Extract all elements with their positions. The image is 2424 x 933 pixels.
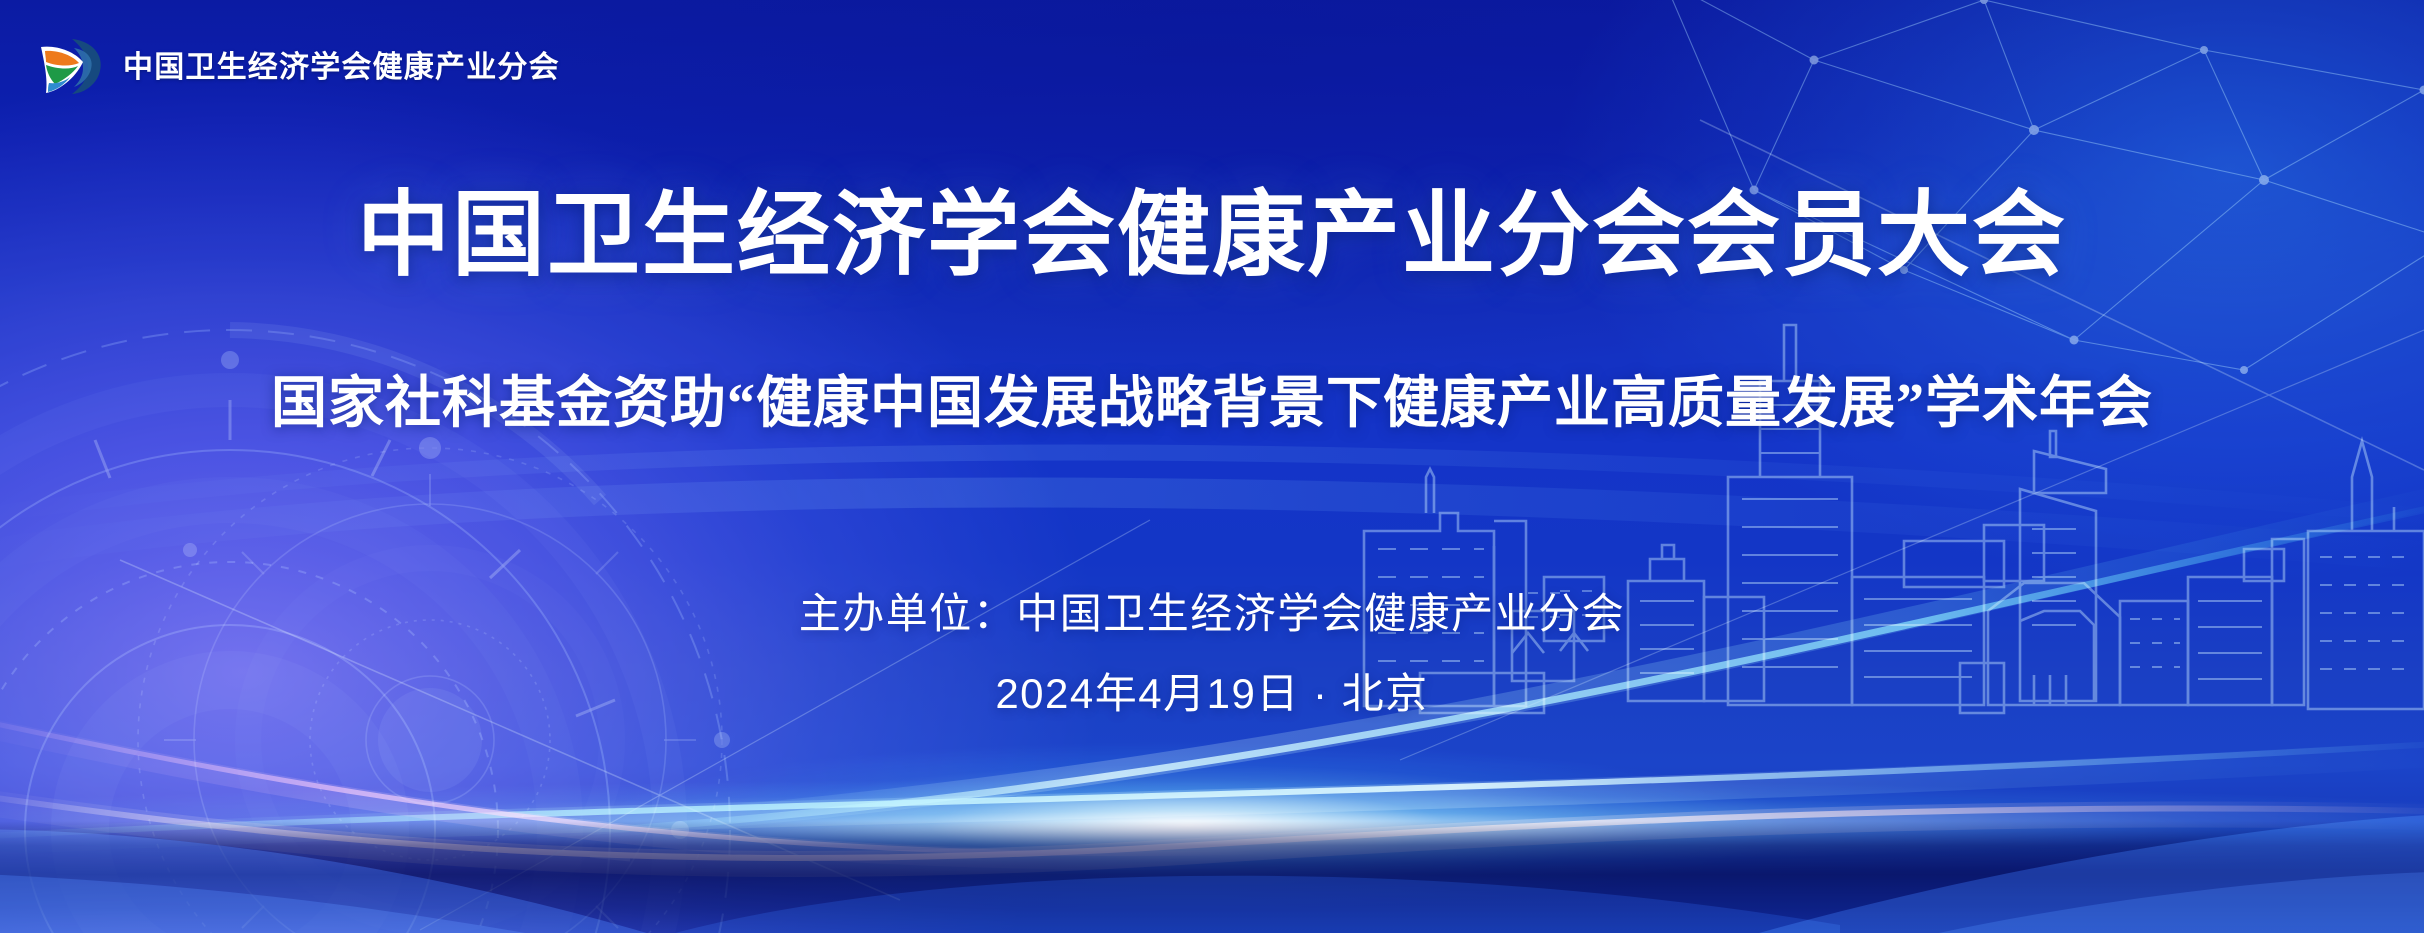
page-title: 中国卫生经济学会健康产业分会会员大会 xyxy=(0,185,2424,285)
banner-content: 中国卫生经济学会健康产业分会 中国卫生经济学会健康产业分会会员大会 国家社科基金… xyxy=(0,0,2424,933)
page-subtitle: 国家社科基金资助“健康中国发展战略背景下健康产业高质量发展”学术年会 xyxy=(0,358,2424,439)
event-info: 主办单位：中国卫生经济学会健康产业分会 2024年4月19日 · 北京 xyxy=(0,588,2424,721)
conference-banner: 中国卫生经济学会健康产业分会 中国卫生经济学会健康产业分会会员大会 国家社科基金… xyxy=(0,0,2424,933)
host-line: 主办单位：中国卫生经济学会健康产业分会 xyxy=(0,588,2424,641)
leaf-shield-logo-icon xyxy=(34,31,106,97)
brand-org-name: 中国卫生经济学会健康产业分会 xyxy=(123,42,560,86)
date-location-line: 2024年4月19日 · 北京 xyxy=(0,660,2424,721)
brand-lockup: 中国卫生经济学会健康产业分会 xyxy=(34,31,560,97)
